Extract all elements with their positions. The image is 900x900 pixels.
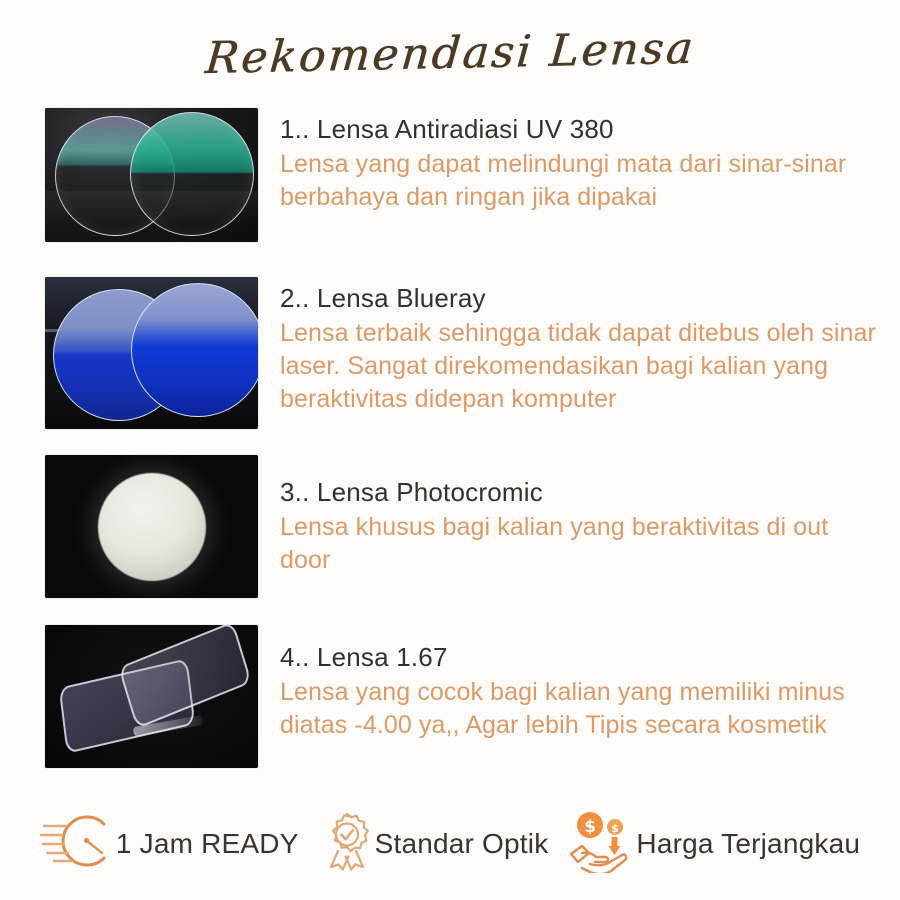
item-text: 4.. Lensa 1.67 Lensa yang cocok bagi kal… — [258, 625, 900, 742]
poster-root: Rekomendasi Lensa 1.. Lensa Antiradiasi … — [0, 0, 900, 900]
item-heading: 3.. Lensa Photocromic — [280, 477, 880, 509]
lens-image-photocromic — [45, 455, 258, 598]
award-badge-icon — [317, 810, 377, 877]
feature-standard: Standar Optik — [317, 810, 549, 877]
lens-image-antiradiasi — [45, 108, 258, 242]
footer-features: 1 Jam READY Standar Optik — [0, 809, 900, 878]
feature-label: 1 Jam READY — [116, 828, 299, 860]
svg-text:$: $ — [612, 822, 620, 835]
list-item: 2.. Lensa Blueray Lensa terbaik sehingga… — [0, 277, 900, 429]
speedometer-icon — [40, 810, 118, 877]
feature-label: Harga Terjangkau — [636, 828, 860, 860]
list-item: 4.. Lensa 1.67 Lensa yang cocok bagi kal… — [0, 625, 900, 768]
item-heading: 2.. Lensa Blueray — [280, 283, 880, 315]
lens-image-167 — [45, 625, 258, 768]
feature-price: $ $ Harga Terjangkau — [568, 809, 860, 878]
item-text: 3.. Lensa Photocromic Lensa khusus bagi … — [258, 455, 900, 577]
item-description: Lensa terbaik sehingga tidak dapat diteb… — [280, 317, 880, 417]
recommendation-list: 1.. Lensa Antiradiasi UV 380 Lensa yang … — [0, 105, 900, 768]
hand-coins-icon: $ $ — [568, 809, 638, 878]
item-description: Lensa khusus bagi kalian yang beraktivit… — [280, 511, 880, 578]
svg-text:$: $ — [584, 817, 596, 837]
item-heading: 1.. Lensa Antiradiasi UV 380 — [280, 114, 880, 146]
list-item: 1.. Lensa Antiradiasi UV 380 Lensa yang … — [0, 108, 900, 242]
item-text: 1.. Lensa Antiradiasi UV 380 Lensa yang … — [258, 108, 900, 214]
item-text: 2.. Lensa Blueray Lensa terbaik sehingga… — [258, 277, 900, 416]
feature-label: Standar Optik — [375, 828, 549, 860]
list-item: 3.. Lensa Photocromic Lensa khusus bagi … — [0, 455, 900, 598]
item-heading: 4.. Lensa 1.67 — [280, 642, 880, 674]
item-description: Lensa yang dapat melindungi mata dari si… — [280, 148, 880, 215]
page-title: Rekomendasi Lensa — [203, 23, 697, 84]
feature-ready: 1 Jam READY — [40, 810, 299, 877]
item-description: Lensa yang cocok bagi kalian yang memili… — [280, 676, 880, 743]
lens-image-blueray — [45, 277, 258, 429]
page-title-wrap: Rekomendasi Lensa — [0, 28, 900, 79]
